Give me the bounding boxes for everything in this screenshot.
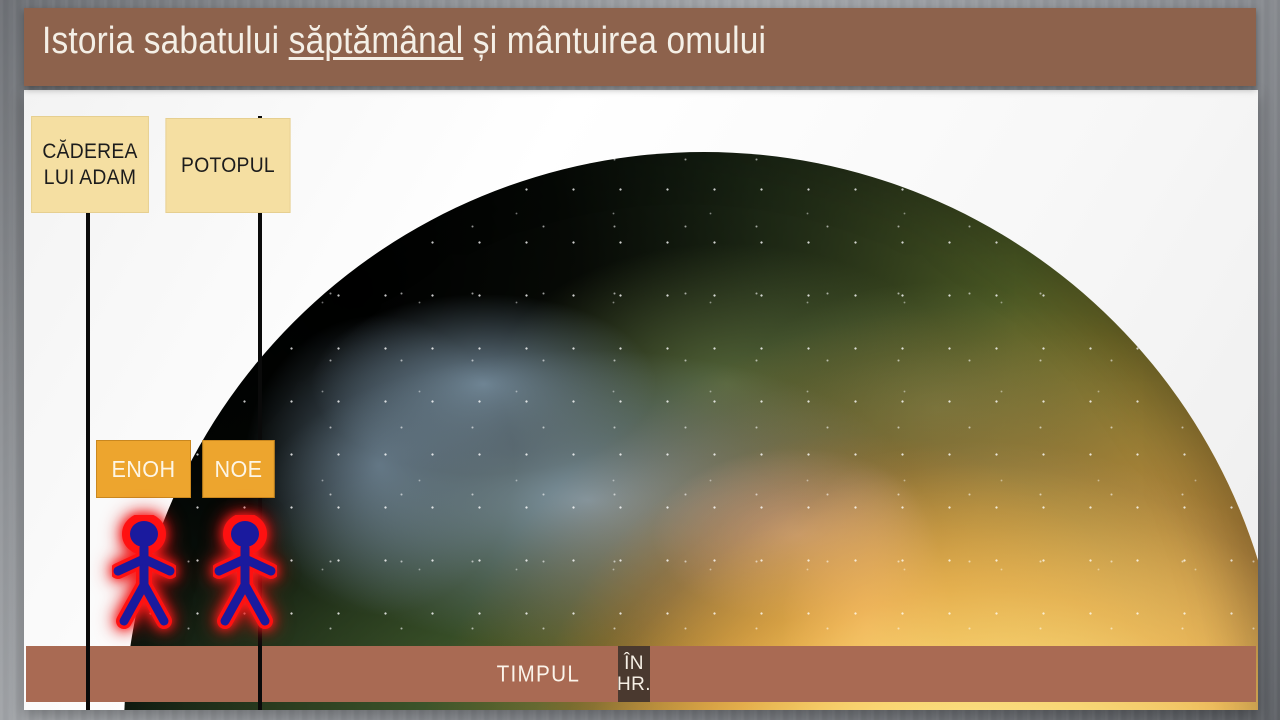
event-label-line1: CĂDEREA (42, 140, 137, 163)
slide-title-bar: Istoria sabatului săptămânal și mântuire… (24, 8, 1256, 86)
globe-sphere (124, 152, 1258, 710)
timeline-bar-tick-adam (86, 646, 90, 702)
event-box-caderea-lui-adam[interactable]: CĂDEREA LUI ADAM (31, 116, 149, 213)
timeline-bar-tick-potop (258, 646, 262, 702)
slide-content-panel: CĂDEREA LUI ADAM CĂDEREA POTOPUL ENOH NO… (24, 90, 1258, 710)
person-box-enoh[interactable]: ENOH (96, 440, 191, 498)
person-label: ENOH (112, 456, 176, 483)
person-box-noe[interactable]: NOE (202, 440, 274, 498)
stick-figure-icon (213, 515, 277, 630)
era-segment-in-hr[interactable]: ÎN HR. (618, 646, 650, 702)
title-prefix: Istoria sabatului (42, 20, 289, 62)
screen: Istoria sabatului săptămânal și mântuire… (0, 0, 1280, 720)
person-label: NOE (215, 456, 263, 483)
event-box-text: CĂDEREA LUI ADAM (42, 139, 137, 190)
event-label-line2: LUI ADAM (44, 166, 136, 189)
event-label-line1: POTOPUL (181, 154, 275, 177)
era-line2: HR. (617, 675, 651, 695)
page-title: Istoria sabatului săptămânal și mântuire… (42, 20, 766, 63)
event-box-potopul[interactable]: CĂDEREA POTOPUL (165, 118, 290, 213)
title-suffix: și mântuirea omului (463, 20, 766, 62)
event-box-text: CĂDEREA POTOPUL (181, 153, 275, 179)
stick-figure-enoh (112, 515, 176, 635)
timeline-bar: TIMPUL ÎN HR. (26, 646, 1256, 702)
glow-overlay (124, 152, 1258, 710)
star-speckles (124, 152, 1258, 710)
stick-figure-noe (213, 515, 277, 635)
presentation-slide: Istoria sabatului săptămânal și mântuire… (24, 8, 1258, 710)
title-underlined-word: săptămânal (289, 20, 464, 62)
stick-figure-icon (112, 515, 176, 630)
timeline-label: TIMPUL (497, 661, 580, 688)
era-line1: ÎN (624, 654, 644, 674)
